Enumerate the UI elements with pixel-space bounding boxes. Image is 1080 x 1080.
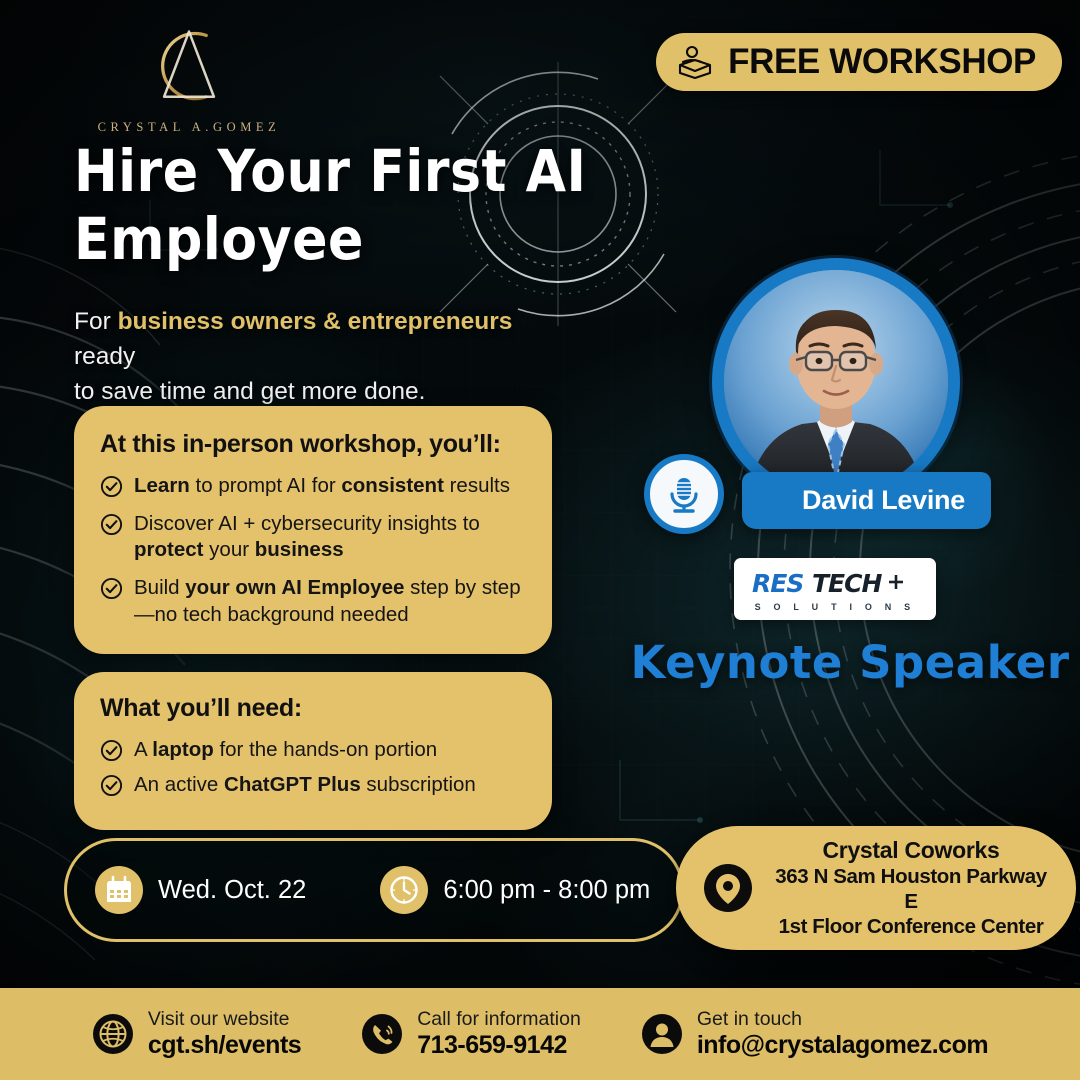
subhead-pre: For (74, 308, 118, 335)
list-item: Learn to prompt AI for consistent result… (100, 473, 526, 500)
footer-item-phone[interactable]: Call for information 713-659-9142 (361, 1008, 581, 1060)
time-item: 6:00 pm - 8:00 pm (380, 866, 650, 914)
phone-icon (361, 1013, 403, 1055)
venue-address-line-1: 363 N Sam Houston Parkway E (768, 864, 1054, 914)
check-circle-icon (100, 577, 123, 600)
headline-line-2: Employee (74, 206, 674, 274)
bullet-content: Learn to prompt AI for consistent result… (134, 473, 510, 500)
bullet-emphasis: protect (134, 538, 203, 561)
date-item: Wed. Oct. 22 (95, 866, 306, 914)
bullet-content: Build your own AI Employee step by step—… (134, 575, 526, 628)
bullet-emphasis: laptop (152, 738, 214, 761)
footer-item-website[interactable]: Visit our website cgt.sh/events (92, 1008, 301, 1060)
speaker-headshot (724, 270, 948, 494)
check-circle-icon (100, 739, 123, 762)
map-pin-icon (702, 862, 754, 914)
date-time-pill: Wed. Oct. 22 6:00 pm - 8:00 pm (64, 838, 684, 942)
svg-text:TECH: TECH (812, 569, 882, 598)
check-circle-icon (100, 475, 123, 498)
footer-website-label: Visit our website (148, 1008, 301, 1031)
free-workshop-label: FREE WORKSHOP (728, 42, 1036, 82)
presenter-board-icon (676, 43, 714, 81)
subhead-post: ready (74, 343, 135, 370)
subhead-line-2: to save time and get more done. (74, 378, 425, 405)
headshot-illustration (724, 270, 948, 494)
event-time: 6:00 pm - 8:00 pm (443, 876, 650, 905)
bullet-emphasis: business (255, 538, 344, 561)
footer-website-value: cgt.sh/events (148, 1031, 301, 1060)
footer-email-value: info@crystalagomez.com (697, 1031, 988, 1060)
bullet-content: Discover AI + cybersecurity insights to … (134, 511, 526, 564)
footer-email-label: Get in touch (697, 1008, 988, 1031)
venue-name: Crystal Coworks (768, 837, 1054, 864)
footer-email-text: Get in touch info@crystalagomez.com (697, 1008, 988, 1060)
footer-phone-text: Call for information 713-659-9142 (417, 1008, 581, 1060)
bullet-text: A (134, 738, 152, 761)
bullet-text: to prompt AI for (190, 474, 342, 497)
bullet-text: Build (134, 576, 185, 599)
list-item: Discover AI + cybersecurity insights to … (100, 511, 526, 564)
bullet-text: for the hands-on portion (214, 738, 437, 761)
microphone-icon (663, 473, 705, 515)
bullet-emphasis: your own AI Employee (185, 576, 404, 599)
bullet-emphasis: ChatGPT Plus (224, 773, 361, 796)
restech-sublabel: S O L U T I O N S (755, 602, 916, 612)
bullet-text: your (203, 538, 254, 561)
bullet-content: An active ChatGPT Plus subscription (134, 772, 476, 799)
list-item: Build your own AI Employee step by step—… (100, 575, 526, 628)
clock-icon (380, 866, 428, 914)
person-icon (641, 1013, 683, 1055)
venue-text: Crystal Coworks 363 N Sam Houston Parkwa… (768, 837, 1054, 939)
headline-line-1: Hire Your First AI (74, 137, 586, 205)
speaker-photo-ring (712, 258, 960, 506)
need-bullet-list: A laptop for the hands-on portionAn acti… (100, 737, 526, 798)
footer-website-text: Visit our website cgt.sh/events (148, 1008, 301, 1060)
restech-wordmark-icon: RES TECH (750, 567, 920, 601)
workshop-benefits-card: At this in-person workshop, you’ll: Lear… (74, 406, 552, 654)
need-card-title: What you’ll need: (100, 694, 526, 723)
footer-phone-label: Call for information (417, 1008, 581, 1031)
venue-address-line-2: 1st Floor Conference Center (768, 914, 1054, 939)
flyer-canvas: CRYSTAL A.GOMEZ FREE WORKSHOP Hire Your … (0, 0, 1080, 1080)
check-circle-icon (100, 774, 123, 797)
bullet-content: A laptop for the hands-on portion (134, 737, 437, 764)
contact-footer: Visit our website cgt.sh/events Call for… (0, 988, 1080, 1080)
footer-item-email[interactable]: Get in touch info@crystalagomez.com (641, 1008, 988, 1060)
keynote-speaker-block: David Levine RES TECH (630, 258, 1070, 678)
speaker-name: David Levine (802, 485, 965, 515)
speaker-name-plate: David Levine (742, 472, 991, 529)
svg-text:RES: RES (752, 569, 803, 598)
footer-phone-value: 713-659-9142 (417, 1031, 581, 1060)
venue-pill: Crystal Coworks 363 N Sam Houston Parkwa… (676, 826, 1076, 950)
speaker-mic-badge (644, 454, 724, 534)
bullet-emphasis: Learn (134, 474, 190, 497)
bullet-emphasis: consistent (341, 474, 444, 497)
bullet-text: results (444, 474, 510, 497)
list-item: A laptop for the hands-on portion (100, 737, 526, 764)
event-date: Wed. Oct. 22 (158, 876, 306, 905)
page-title: Hire Your First AI Employee (74, 138, 674, 274)
bullet-text: An active (134, 773, 224, 796)
globe-icon (92, 1013, 134, 1055)
workshop-card-title: At this in-person workshop, you’ll: (100, 430, 526, 459)
bullet-text: subscription (361, 773, 476, 796)
check-circle-icon (100, 513, 123, 536)
brand-name: CRYSTAL A.GOMEZ (74, 120, 304, 135)
brand-logo: CRYSTAL A.GOMEZ (74, 22, 304, 135)
list-item: An active ChatGPT Plus subscription (100, 772, 526, 799)
requirements-card: What you’ll need: A laptop for the hands… (74, 672, 552, 830)
workshop-bullet-list: Learn to prompt AI for consistent result… (100, 473, 526, 628)
restech-logo: RES TECH S O L U T I O N S (734, 558, 936, 620)
subhead-highlight: business owners & entrepreneurs (118, 308, 513, 335)
subheadline: For business owners & entrepreneurs read… (74, 305, 574, 409)
crystal-a-monogram-icon (130, 22, 248, 114)
keynote-speaker-label: Keynote Speaker (628, 636, 1072, 689)
free-workshop-badge[interactable]: FREE WORKSHOP (656, 33, 1062, 91)
calendar-icon (95, 866, 143, 914)
bullet-text: Discover AI + cybersecurity insights to (134, 512, 480, 535)
